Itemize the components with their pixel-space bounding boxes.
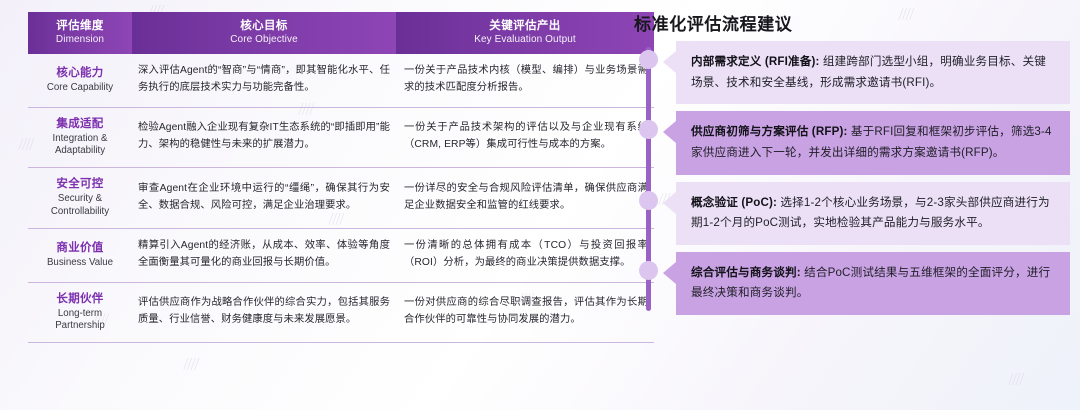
flow-step-heading: 概念验证 (PoC): [691, 196, 777, 209]
dimension-name-en: Integration & Adaptability [34, 133, 126, 158]
column-header-objective-cn: 核心目标 [138, 19, 390, 33]
table-row: 商业价值 Business Value 精算引入Agent的经济账，从成本、效率… [28, 229, 654, 282]
flow-step-card[interactable]: 内部需求定义 (RFI准备): 组建跨部门选型小组，明确业务目标、关键场景、技术… [676, 41, 1070, 104]
table-row: 集成适配 Integration & Adaptability 检验Agent融… [28, 107, 654, 168]
evaluation-table-pane: 评估维度 Dimension 核心目标 Core Objective 关键评估产… [0, 0, 622, 410]
dimension-name-cn: 集成适配 [34, 117, 126, 132]
cell-output: 一份详尽的安全与合规风险评估清单，确保供应商满足企业数据安全和监管的红线要求。 [396, 168, 654, 229]
timeline: 内部需求定义 (RFI准备): 组建跨部门选型小组，明确业务目标、关键场景、技术… [638, 41, 1070, 315]
table-row: 核心能力 Core Capability 深入评估Agent的“智商”与“情商”… [28, 54, 654, 107]
cell-output: 一份清晰的总体拥有成本（TCO）与投资回报率（ROI）分析，为最终的商业决策提供… [396, 229, 654, 282]
table-header: 评估维度 Dimension 核心目标 Core Objective 关键评估产… [28, 12, 654, 54]
process-flow-pane: 标准化评估流程建议 内部需求定义 (RFI准备): 组建跨部门选型小组，明确业务… [622, 0, 1080, 410]
cell-dimension: 安全可控 Security & Controllability [28, 168, 132, 229]
cell-objective: 检验Agent融入企业现有复杂IT生态系统的“即插即用”能力、架构的稳健性与未来… [132, 107, 396, 168]
cell-objective: 精算引入Agent的经济账，从成本、效率、体验等角度全面衡量其可量化的商业回报与… [132, 229, 396, 282]
timeline-node-icon [639, 261, 658, 280]
output-text: 一份详尽的安全与合规风险评估清单，确保供应商满足企业数据安全和监管的红线要求。 [402, 181, 648, 214]
cell-output: 一份关于产品技术内核（模型、编排）与业务场景需求的技术匹配度分析报告。 [396, 54, 654, 107]
page-root: 评估维度 Dimension 核心目标 Core Objective 关键评估产… [0, 0, 1080, 410]
flow-step-card[interactable]: 概念验证 (PoC): 选择1-2个核心业务场景，与2-3家头部供应商进行为期1… [676, 182, 1070, 245]
objective-text: 评估供应商作为战略合作伙伴的综合实力，包括其服务质量、行业信誉、财务健康度与未来… [138, 295, 390, 328]
timeline-step: 概念验证 (PoC): 选择1-2个核心业务场景，与2-3家头部供应商进行为期1… [638, 182, 1070, 245]
column-header-dimension: 评估维度 Dimension [28, 12, 132, 54]
flow-title: 标准化评估流程建议 [634, 10, 1070, 35]
objective-text: 深入评估Agent的“智商”与“情商”，即其智能化水平、任务执行的底层技术实力与… [138, 63, 390, 96]
cell-dimension: 集成适配 Integration & Adaptability [28, 107, 132, 168]
output-text: 一份关于产品技术架构的评估以及与企业现有系统（CRM, ERP等）集成可行性与成… [402, 120, 648, 153]
timeline-node-icon [639, 50, 658, 69]
objective-text: 精算引入Agent的经济账，从成本、效率、体验等角度全面衡量其可量化的商业回报与… [138, 238, 390, 271]
table-row: 长期伙伴 Long-term Partnership 评估供应商作为战略合作伙伴… [28, 282, 654, 343]
dimension-name-cn: 核心能力 [34, 66, 126, 81]
column-header-output-en: Key Evaluation Output [402, 33, 648, 46]
column-header-dimension-cn: 评估维度 [34, 19, 126, 33]
timeline-step: 供应商初筛与方案评估 (RFP): 基于RFI回复和框架初步评估，筛选3-4家供… [638, 111, 1070, 174]
cell-objective: 评估供应商作为战略合作伙伴的综合实力，包括其服务质量、行业信誉、财务健康度与未来… [132, 282, 396, 343]
flow-step-heading: 供应商初筛与方案评估 (RFP): [691, 125, 847, 138]
dimension-name-en: Core Capability [34, 82, 126, 94]
cell-output: 一份关于产品技术架构的评估以及与企业现有系统（CRM, ERP等）集成可行性与成… [396, 107, 654, 168]
flow-step-card[interactable]: 供应商初筛与方案评估 (RFP): 基于RFI回复和框架初步评估，筛选3-4家供… [676, 111, 1070, 174]
objective-text: 审查Agent在企业环境中运行的“缰绳”，确保其行为安全、数据合规、风险可控，满… [138, 181, 390, 214]
flow-step-card[interactable]: 综合评估与商务谈判: 结合PoC测试结果与五维框架的全面评分，进行最终决策和商务… [676, 252, 1070, 315]
output-text: 一份清晰的总体拥有成本（TCO）与投资回报率（ROI）分析，为最终的商业决策提供… [402, 238, 648, 271]
table-header-row: 评估维度 Dimension 核心目标 Core Objective 关键评估产… [28, 12, 654, 54]
output-text: 一份对供应商的综合尽职调查报告，评估其作为长期合作伙伴的可靠性与协同发展的潜力。 [402, 295, 648, 328]
dimension-name-cn: 安全可控 [34, 177, 126, 192]
cell-output: 一份对供应商的综合尽职调查报告，评估其作为长期合作伙伴的可靠性与协同发展的潜力。 [396, 282, 654, 343]
cell-dimension: 核心能力 Core Capability [28, 54, 132, 107]
table-row: 安全可控 Security & Controllability 审查Agent在… [28, 168, 654, 229]
evaluation-table: 评估维度 Dimension 核心目标 Core Objective 关键评估产… [28, 12, 654, 343]
flow-step-heading: 综合评估与商务谈判: [691, 266, 801, 279]
cell-dimension: 长期伙伴 Long-term Partnership [28, 282, 132, 343]
flow-step-heading: 内部需求定义 (RFI准备): [691, 55, 819, 68]
column-header-dimension-en: Dimension [34, 33, 126, 46]
timeline-step: 内部需求定义 (RFI准备): 组建跨部门选型小组，明确业务目标、关键场景、技术… [638, 41, 1070, 104]
dimension-name-en: Long-term Partnership [34, 308, 126, 333]
timeline-node-icon [639, 120, 658, 139]
column-header-objective: 核心目标 Core Objective [132, 12, 396, 54]
cell-objective: 深入评估Agent的“智商”与“情商”，即其智能化水平、任务执行的底层技术实力与… [132, 54, 396, 107]
timeline-node-icon [639, 191, 658, 210]
dimension-name-en: Business Value [34, 257, 126, 269]
column-header-objective-en: Core Objective [138, 33, 390, 46]
column-header-output: 关键评估产出 Key Evaluation Output [396, 12, 654, 54]
dimension-name-cn: 商业价值 [34, 241, 126, 256]
dimension-name-en: Security & Controllability [34, 193, 126, 218]
timeline-step: 综合评估与商务谈判: 结合PoC测试结果与五维框架的全面评分，进行最终决策和商务… [638, 252, 1070, 315]
cell-objective: 审查Agent在企业环境中运行的“缰绳”，确保其行为安全、数据合规、风险可控，满… [132, 168, 396, 229]
output-text: 一份关于产品技术内核（模型、编排）与业务场景需求的技术匹配度分析报告。 [402, 63, 648, 96]
objective-text: 检验Agent融入企业现有复杂IT生态系统的“即插即用”能力、架构的稳健性与未来… [138, 120, 390, 153]
cell-dimension: 商业价值 Business Value [28, 229, 132, 282]
column-header-output-cn: 关键评估产出 [402, 19, 648, 33]
dimension-name-cn: 长期伙伴 [34, 292, 126, 307]
table-body: 核心能力 Core Capability 深入评估Agent的“智商”与“情商”… [28, 54, 654, 342]
